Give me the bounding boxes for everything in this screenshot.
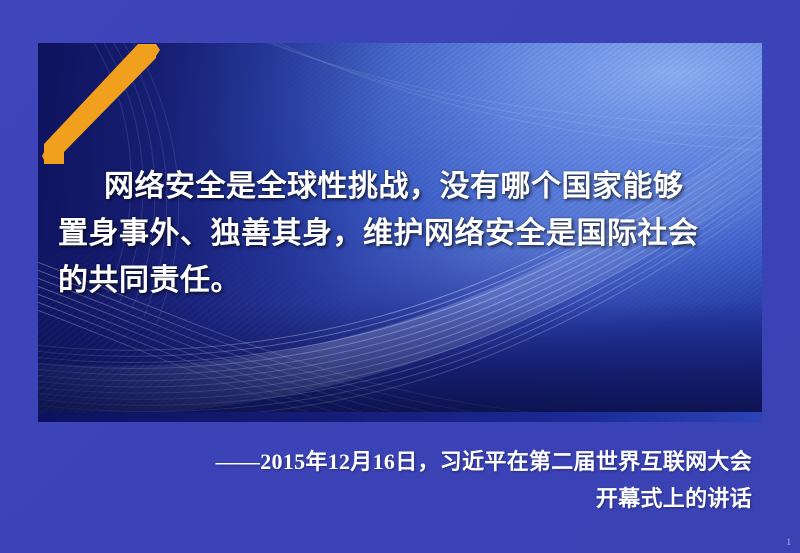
quote-text: 网络安全是全球性挑战，没有哪个国家能够 置身事外、独善其身，维护网络安全是国际社… bbox=[58, 163, 748, 304]
orange-chevron-icon bbox=[38, 38, 188, 168]
attribution-line-1: ——2015年12月16日，习近平在第二届世界互联网大会 bbox=[216, 443, 752, 480]
quote-line-3: 的共同责任。 bbox=[58, 257, 748, 304]
presentation-slide: 网络安全是全球性挑战，没有哪个国家能够 置身事外、独善其身，维护网络安全是国际社… bbox=[0, 0, 800, 553]
quote-line-1: 网络安全是全球性挑战，没有哪个国家能够 bbox=[58, 163, 748, 210]
quote-attribution: ——2015年12月16日，习近平在第二届世界互联网大会 开幕式上的讲话 bbox=[216, 443, 752, 517]
panel-bottom-shadow bbox=[38, 302, 762, 422]
quote-line-2: 置身事外、独善其身，维护网络安全是国际社会 bbox=[58, 210, 748, 257]
panel-bottom-strip bbox=[38, 412, 762, 422]
attribution-line-2: 开幕式上的讲话 bbox=[216, 480, 752, 517]
page-number: 1 bbox=[787, 537, 792, 548]
